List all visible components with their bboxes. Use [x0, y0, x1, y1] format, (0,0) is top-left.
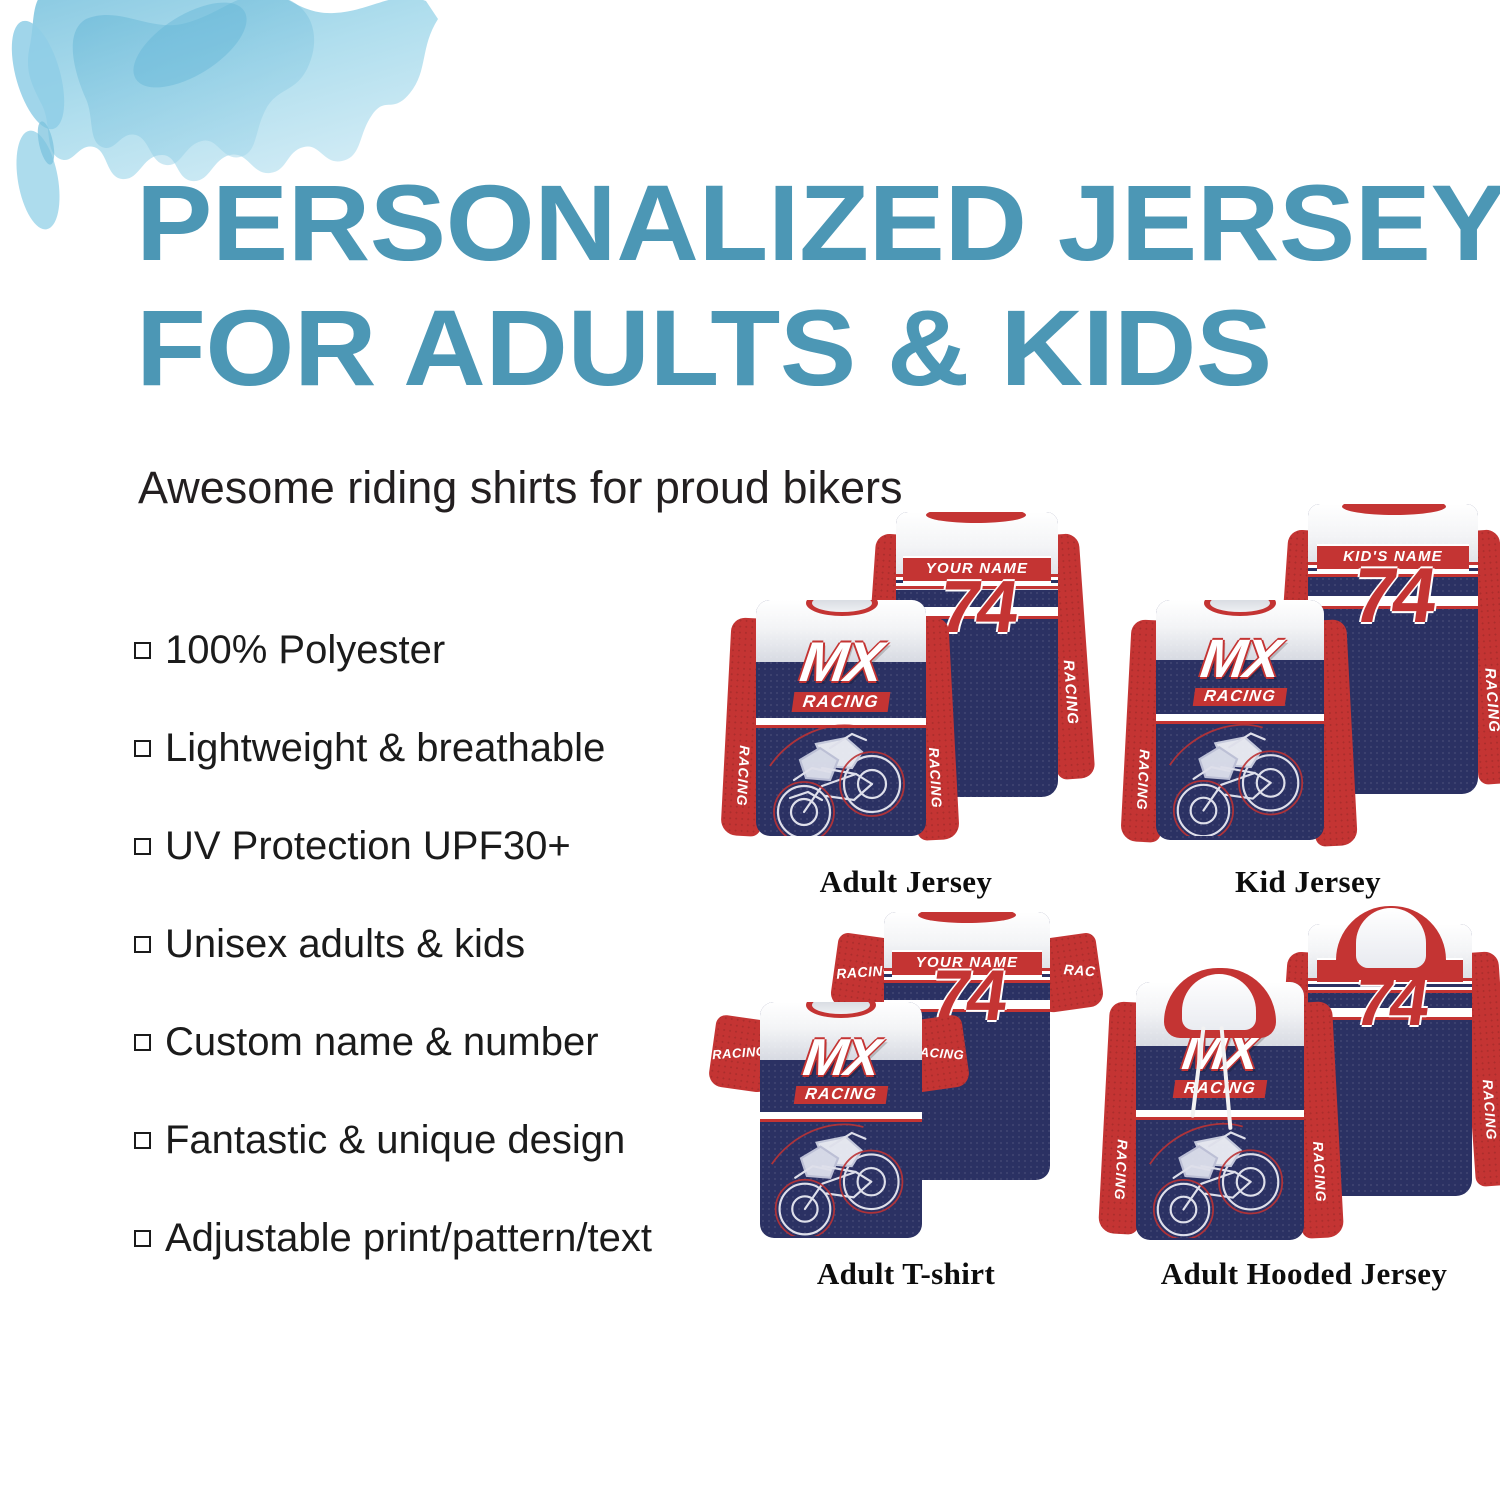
feature-list: 100% Polyester Lightweight & breathable … [134, 628, 774, 1314]
sleeve-racing-text: RACING [1310, 1141, 1329, 1203]
feature-item: Lightweight & breathable [134, 726, 774, 824]
page-title: PERSONALIZED JERSEY FOR ADULTS & KIDS [136, 160, 1366, 411]
feature-label: Adjustable print/pattern/text [165, 1216, 652, 1261]
motocross-rider-illustration [762, 1104, 920, 1236]
product-label: Kid Jersey [1116, 864, 1500, 900]
product-adult-jersey[interactable]: RACING [726, 504, 1086, 904]
sleeve-racing-text: RACING [1481, 667, 1500, 733]
product-gallery: RACING [726, 504, 1500, 1294]
feature-label: 100% Polyester [165, 628, 445, 673]
kid-jersey-images: RACING RACING [1116, 504, 1500, 858]
adult-jersey-front: RACING RACING M [730, 600, 948, 850]
adult-hooded-jersey-front: RACING RACING MX RACING [1108, 968, 1332, 1254]
custom-number-text: 74 [1349, 560, 1438, 630]
product-label: Adult Jersey [726, 864, 1086, 900]
product-adult-tshirt[interactable]: RACING RAC [726, 906, 1086, 1294]
product-kid-jersey[interactable]: RACING RACING [1116, 504, 1500, 904]
adult-hooded-jersey-images: RACING [1108, 906, 1500, 1248]
feature-label: Custom name & number [165, 1020, 599, 1065]
kid-jersey-front: RACING MX RACING [1130, 600, 1346, 854]
checkbox-icon [134, 740, 151, 757]
checkbox-icon [134, 642, 151, 659]
feature-item: UV Protection UPF30+ [134, 824, 774, 922]
feature-item: Unisex adults & kids [134, 922, 774, 1020]
feature-label: Lightweight & breathable [165, 726, 605, 771]
adult-tshirt-front: RACING RACING MX RACING [728, 1002, 950, 1250]
checkbox-icon [134, 1230, 151, 1247]
motocross-rider-illustration [1160, 706, 1320, 836]
adult-jersey-images: RACING [726, 504, 1086, 858]
checkbox-icon [134, 838, 151, 855]
brand-racing-text: RACING [794, 1086, 889, 1104]
feature-item: Adjustable print/pattern/text [134, 1216, 774, 1314]
sleeve-racing-text: RAC [1063, 961, 1096, 979]
sleeve-racing-text: RACING [1112, 1139, 1131, 1201]
product-label: Adult T-shirt [726, 1256, 1086, 1292]
checkbox-icon [134, 936, 151, 953]
adult-tshirt-images: RACING RAC [726, 906, 1086, 1248]
feature-label: UV Protection UPF30+ [165, 824, 571, 869]
sleeve-racing-text: RACING [1060, 659, 1082, 725]
checkbox-icon [134, 1034, 151, 1051]
feature-item: 100% Polyester [134, 628, 774, 726]
brand-racing-text: RACING [1173, 1080, 1268, 1098]
sleeve-racing-text: RACING [926, 747, 945, 809]
feature-label: Fantastic & unique design [165, 1118, 625, 1163]
checkbox-icon [134, 1132, 151, 1149]
feature-item: Fantastic & unique design [134, 1118, 774, 1216]
sleeve-racing-text: RACING [1134, 749, 1153, 811]
motocross-rider-illustration [1140, 1102, 1300, 1238]
product-label: Adult Hooded Jersey [1108, 1256, 1500, 1292]
motocross-rider-illustration [760, 708, 922, 836]
sleeve-racing-text: RACING [1480, 1079, 1500, 1141]
sleeve-racing-text: RACING [734, 745, 753, 807]
feature-label: Unisex adults & kids [165, 922, 525, 967]
sleeve-racing-text: RACING [712, 1043, 767, 1062]
page-title-line-1: PERSONALIZED JERSEY [136, 160, 1440, 285]
page-title-line-2: FOR ADULTS & KIDS [136, 285, 1440, 410]
product-adult-hooded-jersey[interactable]: RACING [1108, 906, 1500, 1294]
feature-item: Custom name & number [134, 1020, 774, 1118]
product-listing-page: PERSONALIZED JERSEY FOR ADULTS & KIDS Aw… [0, 0, 1500, 1500]
brand-racing-text: RACING [1193, 688, 1288, 706]
